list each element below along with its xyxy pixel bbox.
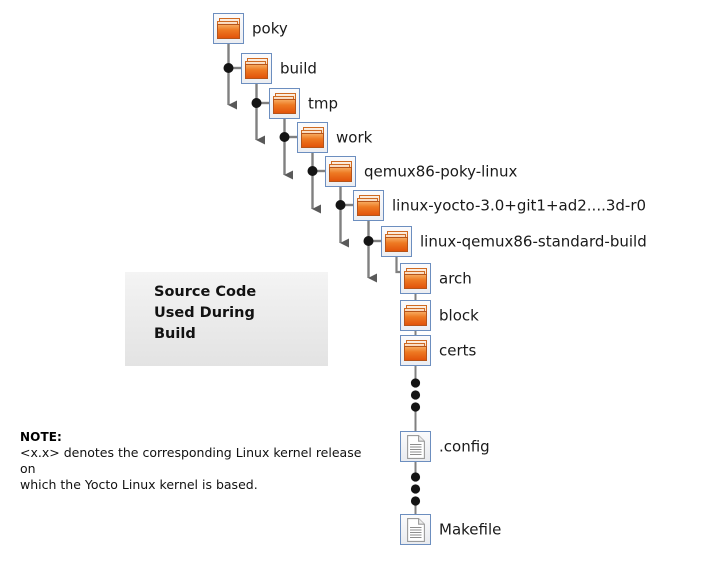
note-title: NOTE: [20,430,380,445]
tree-node-label: poky [252,21,288,36]
folder-icon [400,263,431,294]
folder-icon [213,13,244,44]
diagram-canvas: poky build tmp work qemux86-poky-linux l… [0,0,705,581]
tree-node-label: block [439,308,479,323]
note-block: NOTE: <x.x> denotes the corresponding Li… [20,430,380,493]
tree-node-label: linux-qemux86-standard-build [420,234,647,249]
folder-icon [269,88,300,119]
tree-node-label: build [280,61,317,76]
callout-text: Source Code Used During Build [154,282,256,345]
tree-node-qemux86-poky-linux[interactable]: qemux86-poky-linux [325,156,356,187]
source-code-callout: Source Code Used During Build [125,272,328,366]
tree-node-label: certs [439,343,476,358]
tree-node-label: qemux86-poky-linux [364,164,517,179]
tree-node-poky[interactable]: poky [213,13,244,44]
tree-node-label: arch [439,271,472,286]
tree-node-certs[interactable]: certs [400,335,431,366]
tree-node-label: linux-yocto-3.0+git1+ad2....3d-r0 [392,198,646,213]
tree-node-tmp[interactable]: tmp [269,88,300,119]
document-page-icon [407,435,425,459]
tree-node-linux-yocto[interactable]: linux-yocto-3.0+git1+ad2....3d-r0 [353,190,384,221]
folder-icon [353,190,384,221]
folder-icon [400,335,431,366]
tree-node-config[interactable]: .config [400,431,431,462]
tree-node-arch[interactable]: arch [400,263,431,294]
tree-node-linux-qemux86-standard-build[interactable]: linux-qemux86-standard-build [381,226,412,257]
tree-node-work[interactable]: work [297,122,328,153]
file-icon [400,514,431,545]
folder-icon [400,300,431,331]
tree-node-label: tmp [308,96,338,111]
folder-icon [325,156,356,187]
note-body: <x.x> denotes the corresponding Linux ke… [20,445,380,493]
tree-node-label: work [336,130,372,145]
tree-node-makefile[interactable]: Makefile [400,514,431,545]
document-page-icon [407,518,425,542]
folder-icon [297,122,328,153]
tree-node-build[interactable]: build [241,53,272,84]
folder-icon [381,226,412,257]
tree-node-label: Makefile [439,522,501,537]
folder-icon [241,53,272,84]
tree-node-block[interactable]: block [400,300,431,331]
file-icon [400,431,431,462]
connector-lines [0,0,705,581]
tree-node-label: .config [439,439,490,454]
